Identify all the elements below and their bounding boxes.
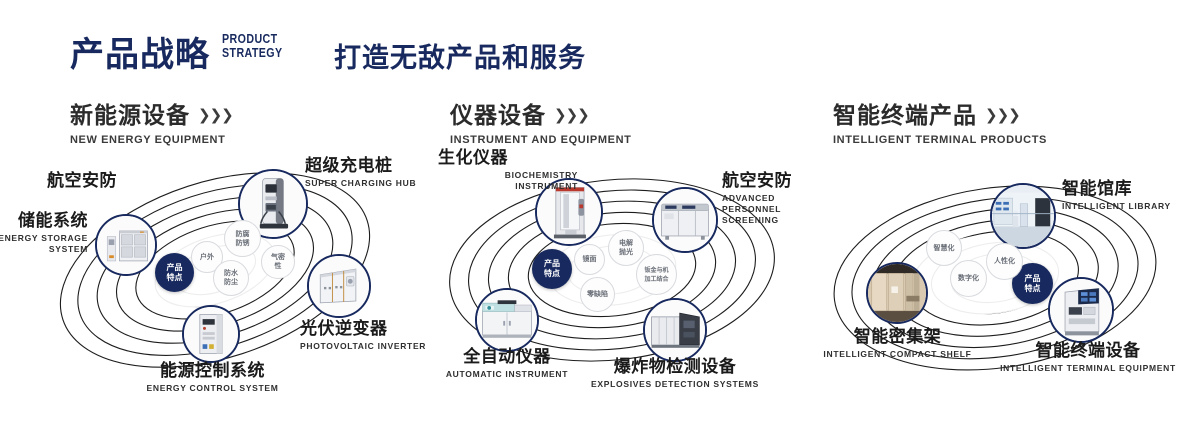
caption-energy-storage-system: 储能系统 ENERGY STORAGE SYSTEM — [0, 212, 88, 255]
node-label-en: ENERGY CONTROL SYSTEM — [130, 383, 295, 394]
feature-bubble-anticorrosion: 防腐防锈 — [224, 220, 261, 257]
node-label-cn: 全自动仪器 — [424, 348, 590, 367]
caption-aviation-security-left: 航空安防 — [7, 172, 117, 191]
inverter-icon — [309, 256, 369, 316]
page-title-en: PRODUCT STRATEGY — [222, 32, 312, 60]
orbit-group-instrument: 生化仪器 BIOCHEMISTRY INSTRUMENT 航空安防 航空安防 A… — [400, 150, 820, 400]
core-bubble-line2: 特点 — [544, 269, 560, 279]
node-label-cn: 储能系统 — [0, 212, 88, 231]
node-label-cn: 航空安防 — [7, 172, 117, 191]
section-title-en: INTELLIGENT TERMINAL PRODUCTS — [833, 134, 1047, 146]
node-label-cn: 爆炸物检测设备 — [570, 358, 780, 377]
chevron-right-icon: ❯❯❯ — [554, 106, 589, 124]
page-subtitle: 打造无敌产品和服务 — [334, 36, 586, 75]
node-explosives-detection-systems[interactable] — [643, 298, 707, 362]
core-bubble-line1: 产品 — [1025, 274, 1041, 284]
automatic-instrument-icon — [477, 290, 537, 350]
header: 产品战略 PRODUCT STRATEGY 打造无敌产品和服务 — [0, 0, 1200, 90]
node-advanced-personnel-screening[interactable] — [652, 187, 718, 253]
node-label-cn: 能源控制系统 — [130, 362, 295, 381]
chevron-right-icon: ❯❯❯ — [198, 106, 233, 124]
detection-system-icon — [645, 300, 705, 360]
feature-bubble-mirror-surface: 镜面 — [574, 244, 605, 275]
node-intelligent-compact-shelf[interactable] — [866, 262, 928, 324]
product-strategy-infographic: 产品战略 PRODUCT STRATEGY 打造无敌产品和服务 新能源设备❯❯❯… — [0, 0, 1200, 422]
node-label-en: ENERGY STORAGE SYSTEM — [0, 233, 88, 255]
section-title-cn: 智能终端产品❯❯❯ — [833, 96, 1047, 130]
section-title-instrument: 仪器设备❯❯❯ INSTRUMENT AND EQUIPMENT — [450, 96, 631, 146]
caption-biochemistry-instrument: 生化仪器 BIOCHEMISTRY INSTRUMENT — [598, 149, 738, 192]
node-label-en: EXPLOSIVES DETECTION SYSTEMS — [570, 379, 780, 390]
node-label-en: BIOCHEMISTRY INSTRUMENT — [468, 170, 578, 192]
node-energy-storage-system[interactable] — [95, 214, 157, 276]
compact-shelf-icon — [868, 264, 926, 322]
feature-bubble-zero-defect: 零缺陷 — [580, 277, 615, 312]
control-cabinet-icon — [184, 307, 238, 361]
core-bubble-new-energy: 产品 特点 — [155, 253, 194, 292]
core-bubble-instrument: 产品 特点 — [532, 249, 572, 289]
section-title-cn: 仪器设备❯❯❯ — [450, 96, 631, 130]
caption-energy-control-system: 能源控制系统 ENERGY CONTROL SYSTEM — [130, 362, 295, 394]
node-label-en: INTELLIGENT COMPACT SHELF — [810, 349, 985, 360]
chevron-right-icon: ❯❯❯ — [985, 106, 1020, 124]
node-label-cn: 生化仪器 — [438, 149, 738, 168]
core-bubble-line1: 产品 — [544, 259, 560, 269]
core-bubble-line1: 产品 — [167, 263, 183, 273]
section-title-en: NEW ENERGY EQUIPMENT — [70, 134, 233, 146]
node-label-cn: 智能终端设备 — [998, 342, 1178, 361]
node-label-cn: 智能馆库 — [1062, 180, 1171, 199]
section-title-new-energy: 新能源设备❯❯❯ NEW ENERGY EQUIPMENT — [70, 96, 233, 146]
caption-automatic-instrument: 全自动仪器 AUTOMATIC INSTRUMENT — [424, 348, 590, 380]
section-title-intelligent-terminal: 智能终端产品❯❯❯ INTELLIGENT TERMINAL PRODUCTS — [833, 96, 1047, 146]
node-label-en: INTELLIGENT LIBRARY — [1062, 201, 1171, 212]
feature-bubble-electro-polishing: 电解抛光 — [608, 230, 644, 266]
section-title-cn: 新能源设备❯❯❯ — [70, 96, 233, 130]
orbit-group-intelligent-terminal: 智能馆库 INTELLIGENT LIBRARY 智能密集架 INTELLIGE… — [790, 150, 1200, 400]
core-bubble-line2: 特点 — [167, 273, 183, 283]
node-intelligent-terminal-equipment[interactable] — [1048, 277, 1114, 343]
node-label-en: INTELLIGENT TERMINAL EQUIPMENT — [998, 363, 1178, 374]
page-title: 产品战略 — [70, 27, 210, 76]
node-intelligent-library[interactable] — [990, 183, 1056, 249]
section-title-en: INSTRUMENT AND EQUIPMENT — [450, 134, 631, 146]
feature-bubble-digitization: 数字化 — [950, 260, 987, 297]
caption-intelligent-terminal-equipment: 智能终端设备 INTELLIGENT TERMINAL EQUIPMENT — [998, 342, 1178, 374]
caption-explosives-detection-systems: 爆炸物检测设备 EXPLOSIVES DETECTION SYSTEMS — [570, 358, 780, 390]
cabinet-icon — [97, 216, 155, 274]
core-bubble-line2: 特点 — [1025, 284, 1041, 294]
screening-machine-icon — [654, 189, 716, 251]
node-photovoltaic-inverter[interactable] — [307, 254, 371, 318]
feature-bubble-sheetmetal-machining: 钣金与机加工结合 — [636, 254, 677, 295]
terminal-kiosk-icon — [1050, 279, 1112, 341]
node-energy-control-system[interactable] — [182, 305, 240, 363]
feature-bubble-airtight: 气密性 — [261, 245, 295, 279]
node-label-en: AUTOMATIC INSTRUMENT — [424, 369, 590, 380]
node-automatic-instrument[interactable] — [475, 288, 539, 352]
feature-bubble-waterproof: 防水防尘 — [213, 260, 249, 296]
caption-intelligent-compact-shelf: 智能密集架 INTELLIGENT COMPACT SHELF — [810, 328, 985, 360]
feature-bubble-intelligence: 智慧化 — [926, 230, 962, 266]
feature-bubble-humanization: 人性化 — [986, 243, 1023, 280]
node-label-cn: 智能密集架 — [810, 328, 985, 347]
page-title-en-line1: PRODUCT — [222, 32, 312, 46]
caption-intelligent-library: 智能馆库 INTELLIGENT LIBRARY — [1062, 180, 1171, 212]
library-room-icon — [992, 185, 1054, 247]
page-title-en-line2: STRATEGY — [222, 46, 312, 60]
